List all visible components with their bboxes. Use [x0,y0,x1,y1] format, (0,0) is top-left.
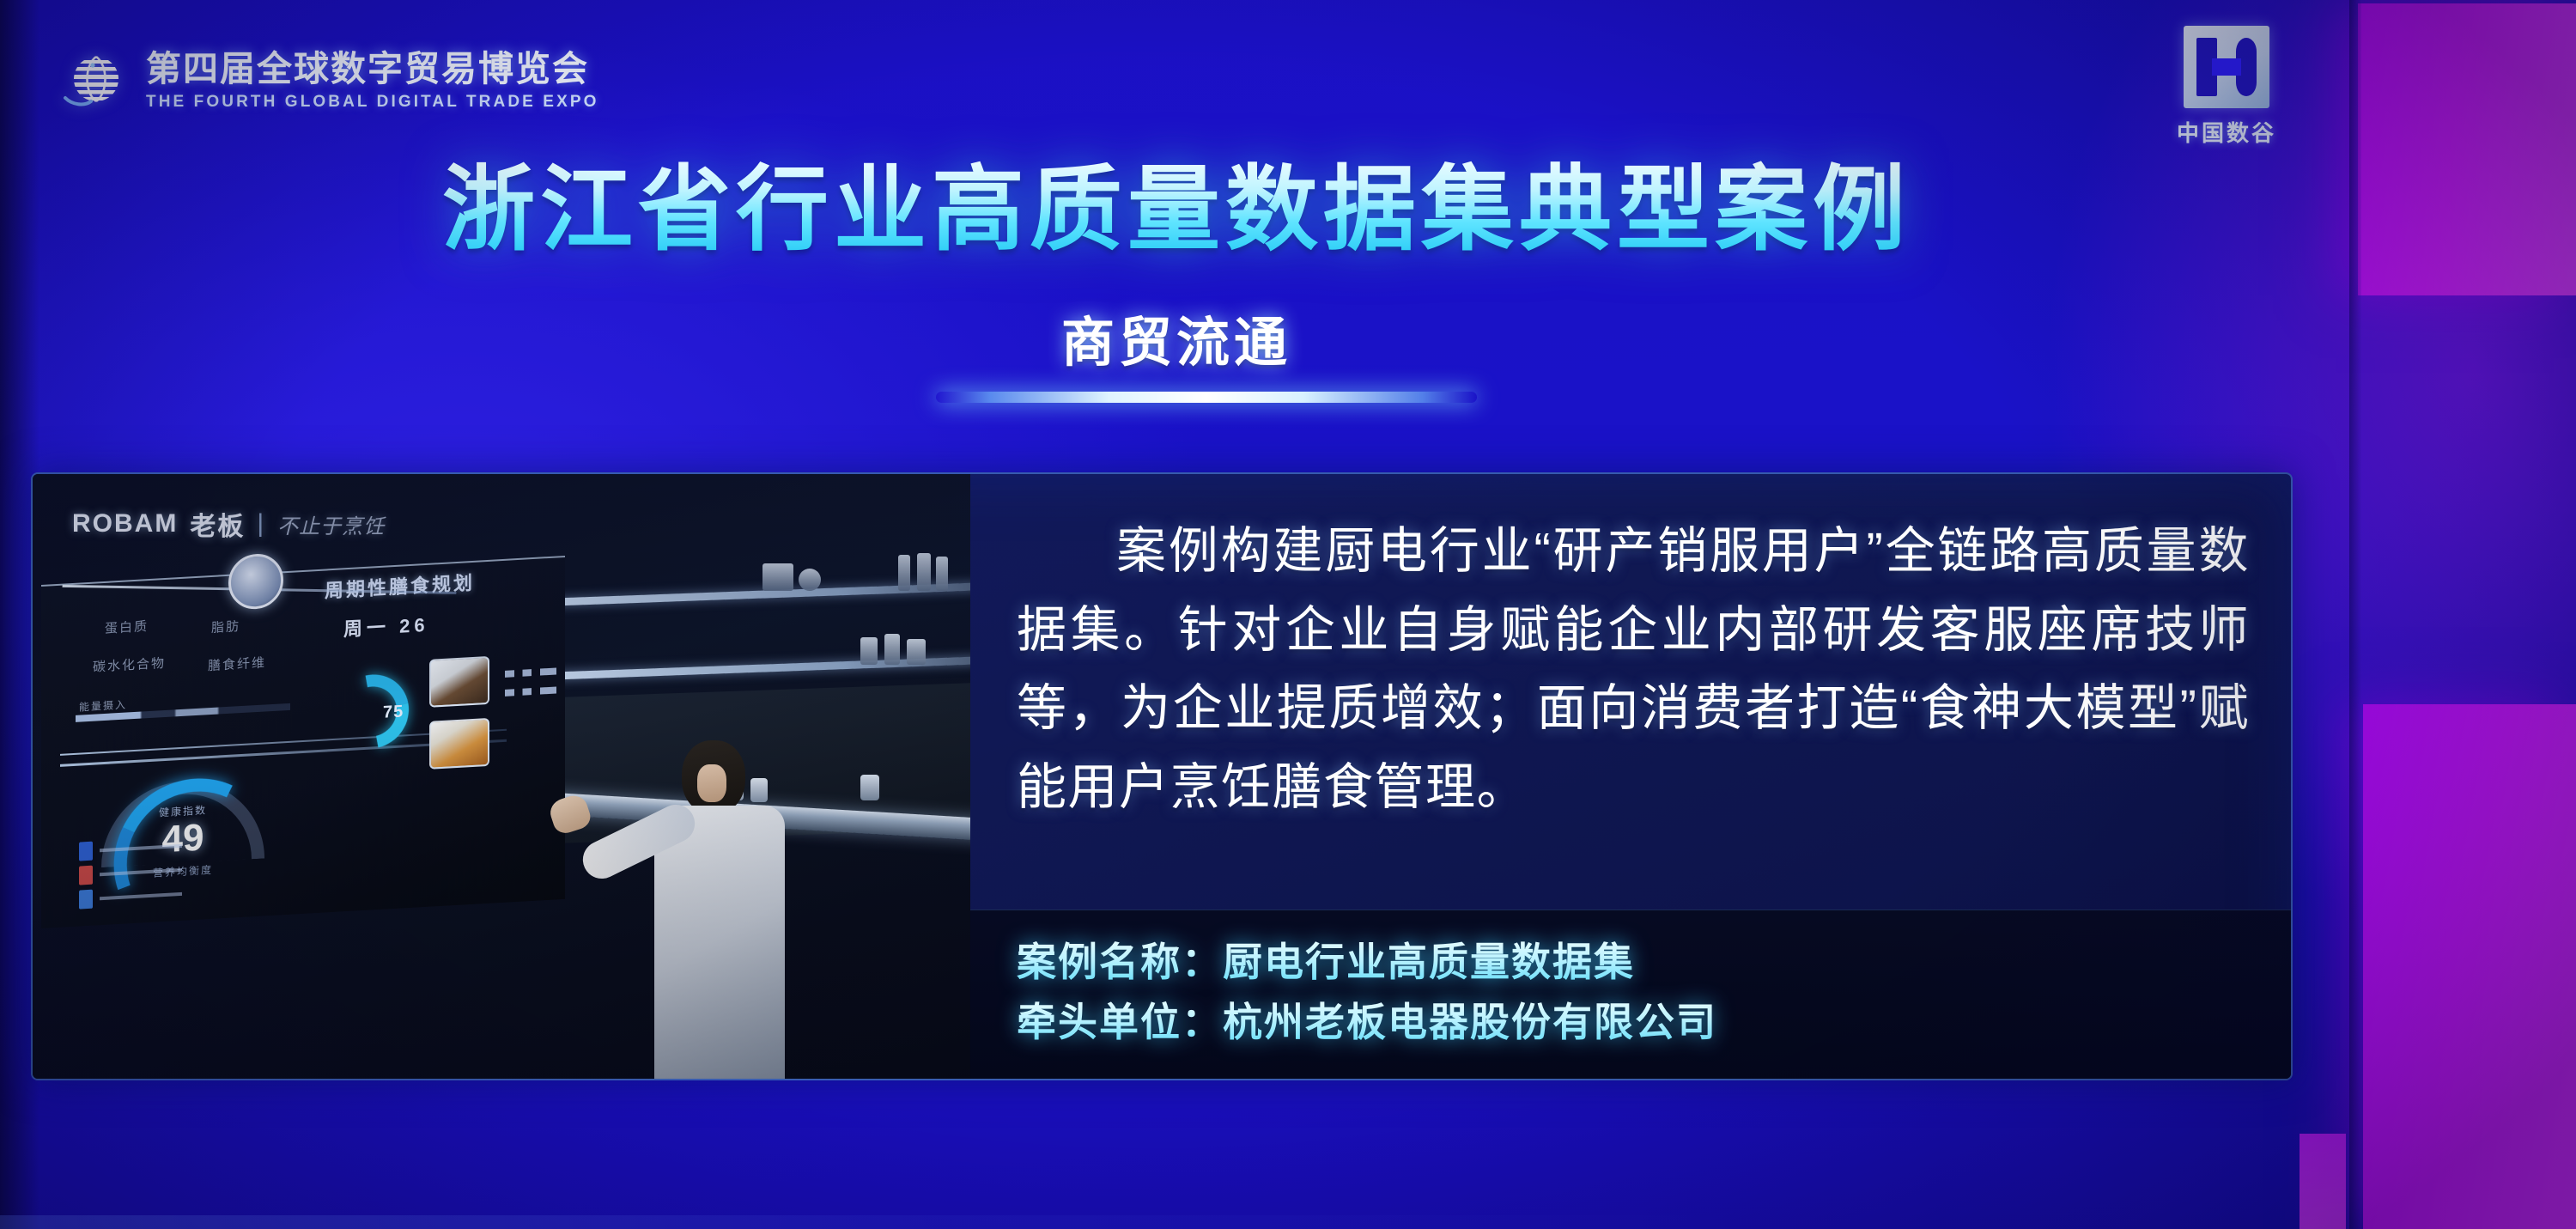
robam-brand-cn: 老板 [190,505,245,543]
wall-panel-magenta-top [2358,3,2576,295]
shelf-object [917,553,931,591]
person-face [697,764,726,802]
globe-icon [62,48,127,113]
legend-chip [79,842,93,861]
case-card: 蛋白质 脂肪 碳水化合物 膳食纤维 能量摄入 健康指数 49 营养均衡度 周期性… [31,472,2293,1080]
brand-separator: | [257,509,265,538]
display-label: 能量摄入 [79,697,127,714]
shelf-object [898,555,910,591]
gauge-value: 49 [101,813,264,866]
case-description: 案例构建厨电行业“研产销服用户”全链路高质量数据集。针对企业自身赋能企业内部研发… [970,474,2291,827]
person-body [654,806,785,1079]
robam-brand-en: ROBAM [72,509,178,538]
case-text-panel: 案例构建厨电行业“研产销服用户”全链路高质量数据集。针对企业自身赋能企业内部研发… [970,474,2291,1079]
lead-unit-label: 牵头单位： [1017,1000,1223,1044]
stage-floor-sheen [0,1215,2318,1229]
person-at-display [634,740,805,1079]
title-divider [936,392,1477,403]
case-name-label: 案例名称： [1017,940,1223,984]
china-data-valley-mark-icon [2184,26,2269,108]
display-label: 膳食纤维 [208,653,266,674]
shelf-object [762,563,793,591]
shelf-object [907,639,926,665]
smart-kitchen-display: 蛋白质 脂肪 碳水化合物 膳食纤维 能量摄入 健康指数 49 营养均衡度 周期性… [41,556,565,928]
food-thumbnail [429,656,489,708]
meal-plan-title: 周期性膳食规划 [325,568,475,604]
presentation-stage: 第四届全球数字贸易博览会 THE FOURTH GLOBAL DIGITAL T… [0,0,2576,1229]
shelf-object [936,557,948,591]
expo-logo: 第四届全球数字贸易博览会 THE FOURTH GLOBAL DIGITAL T… [62,48,599,113]
partner-logo: 中国数谷 [2145,26,2308,148]
partner-mark-bar [2212,58,2241,76]
avatar [228,552,283,611]
robam-brand-logo: ROBAM 老板 | 不止于烹饪 [72,505,385,543]
shelf-object [799,569,821,591]
display-text-placeholder [505,668,556,678]
legend-chip [79,890,93,910]
shelf-object [860,637,878,665]
partner-logo-text: 中国数谷 [2145,116,2308,148]
wall-panel-magenta-bottom [2363,704,2576,1229]
case-name-row: 案例名称：厨电行业高质量数据集 [1017,933,2245,993]
display-label: 蛋白质 [105,617,149,637]
legend-line [100,892,182,900]
display-text-placeholder [505,687,556,697]
shelf-object [884,634,900,665]
meal-plan-day: 周一 26 [343,610,429,642]
expo-logo-title-cn: 第四届全球数字贸易博览会 [146,50,599,88]
mini-gauge-value: 75 [383,702,404,722]
lead-unit-value: 杭州老板电器股份有限公司 [1223,1000,1717,1044]
food-thumbnail [429,718,489,770]
page-title: 浙江省行业高质量数据集典型案例 [0,160,2353,260]
case-name-value: 厨电行业高质量数据集 [1223,940,1635,984]
counter-item [860,775,879,800]
display-label: 脂肪 [211,617,240,636]
lead-unit-row: 牵头单位：杭州老板电器股份有限公司 [1017,993,2245,1053]
case-photo: 蛋白质 脂肪 碳水化合物 膳食纤维 能量摄入 健康指数 49 营养均衡度 周期性… [33,474,970,1079]
case-meta: 案例名称：厨电行业高质量数据集 牵头单位：杭州老板电器股份有限公司 [970,910,2291,1079]
kitchen-shelf-lower [531,656,970,680]
page-subtitle: 商贸流通 [0,299,2353,376]
display-label: 碳水化合物 [93,654,166,676]
expo-logo-title-en: THE FOURTH GLOBAL DIGITAL TRADE EXPO [146,93,599,112]
robam-brand-tagline: 不止于烹饪 [277,509,385,539]
legend-chip [79,866,93,885]
